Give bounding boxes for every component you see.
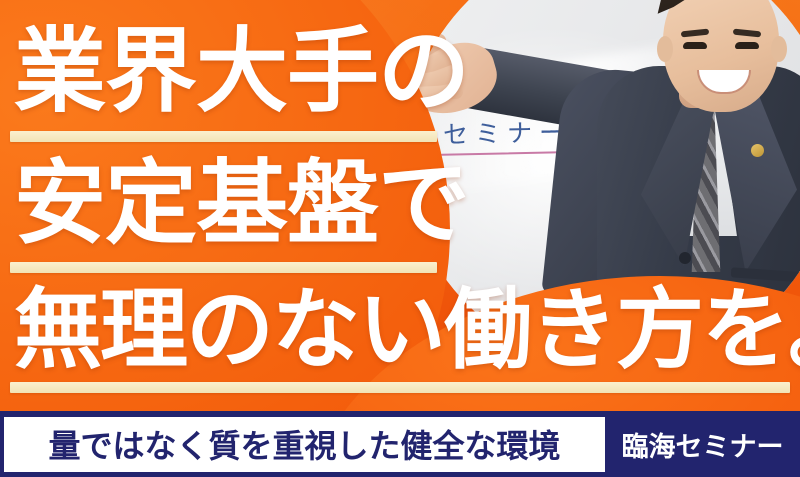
- headline-rule-1: [10, 131, 437, 142]
- headline-line-3: 無理のない働き方を。: [14, 286, 800, 374]
- bottom-bar: 量ではなく質を重視した健全な環境 臨海セミナー: [0, 411, 800, 477]
- headline-line-2: 安定基盤で: [14, 158, 469, 250]
- brand-name: 臨海セミナー: [605, 425, 800, 464]
- headline-line-1: 業界大手の: [14, 26, 469, 118]
- recruitment-banner: 共に成長できる!! セミナー: [0, 0, 800, 477]
- tagline-text: 量ではなく質を重視した健全な環境: [48, 421, 560, 467]
- tagline-box: 量ではなく質を重視した健全な環境: [4, 417, 605, 472]
- headline-rule-2: [10, 262, 437, 273]
- headline-block: 業界大手の 安定基盤で 無理のない働き方を。: [0, 0, 800, 412]
- headline-rule-3: [10, 382, 790, 393]
